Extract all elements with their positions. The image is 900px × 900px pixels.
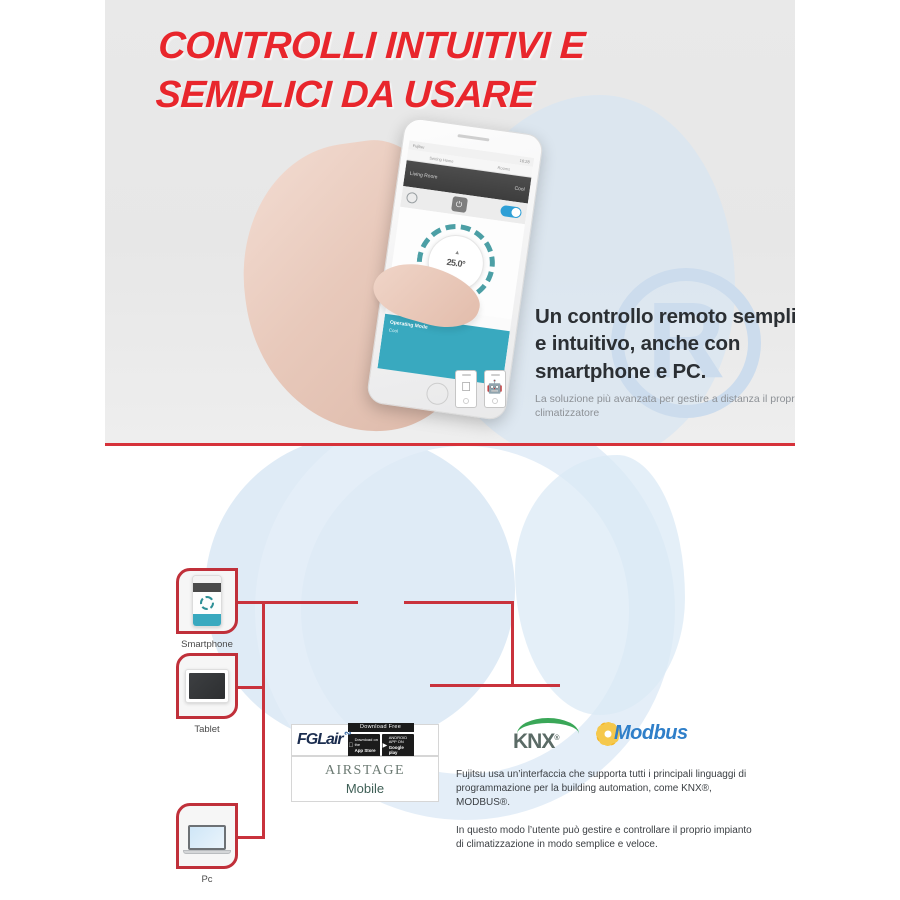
bottom-paragraph-1: Fujitsu usa un’interfaccia che supporta … [456,768,756,811]
google-play-small: ANDROID APP ON [389,735,407,745]
download-free-label: Download Free [348,723,414,732]
fglair-logo: FGLair ∾ [297,731,343,749]
line-tablet-to-bus [238,686,265,689]
android-phone-icon: 🤖 [484,370,506,408]
hero-heading-line3: smartphone e PC. [535,360,706,383]
device-frame-tablet [176,653,238,719]
tab-setting-home[interactable]: Setting Home [429,155,454,163]
status-carrier: Fujitsu [412,143,424,150]
line-pc-to-bus [238,836,265,839]
wifi-arc-icon: ∾ [344,728,351,739]
airstage-subtitle: Mobile [346,781,384,796]
device-smartphone[interactable]: Smartphone [176,568,238,650]
power-icon[interactable]: ⏻ [451,196,468,213]
phone-screen: Fujitsu 16:28 Setting Home Rooms Living … [377,140,534,385]
apple-icon:  [349,743,354,749]
google-play-label: Google play [389,745,413,755]
tablet-thumbnail [185,669,229,703]
line-smartphone-to-bus [238,601,358,604]
timer-icon[interactable] [406,192,418,204]
smartphone-thumbnail [192,575,222,627]
phone-speaker [457,134,489,141]
knx-logo: KNX® [513,718,579,754]
page-root: R CONTROLLI INTUITIVI E SEMPLICI DA USAR… [0,0,900,900]
android-logo-icon: 🤖 [487,380,503,393]
device-pc[interactable]: Pc [176,803,238,885]
google-play-badge[interactable]: ▶ ANDROID APP ON Google play [382,734,414,757]
knx-logo-text: KNX® [513,730,579,754]
line-internet-to-house [404,601,514,604]
line-house-vertical [511,601,514,687]
device-tablet[interactable]: Tablet [176,653,238,735]
modbus-logo-text: Modbus [614,722,688,745]
platform-icons:  🤖 [455,370,506,408]
bottom-text-block: Fujitsu usa un’interfaccia che supporta … [456,768,756,852]
status-time: 16:28 [519,158,530,164]
page-title-line1: CONTROLLI INTUITIVI E [157,25,586,67]
store-badges[interactable]:  Download on the App Store ▶ ANDROID AP… [348,734,414,757]
line-to-router [430,684,560,687]
device-label-smartphone: Smartphone [176,639,238,650]
device-label-tablet: Tablet [176,724,238,735]
bottom-paragraph-2: In questo modo l’utente può gestire e co… [456,824,756,852]
device-frame-pc [176,803,238,869]
hero-panel: R CONTROLLI INTUITIVI E SEMPLICI DA USAR… [105,0,795,446]
phone-home-button[interactable] [425,381,450,406]
device-label-pc: Pc [176,874,238,885]
temperature-value: 25.0° [446,257,466,269]
hero-heading: Un controllo remoto semplice e intuitivo… [535,303,795,385]
hero-subtext: La soluzione più avanzata per gestire a … [535,392,795,421]
dial-up-arrow-icon: ▲ [454,250,461,257]
room-status: Cool [514,186,525,193]
apple-phone-icon:  [455,370,477,408]
hero-text-block: Un controllo remoto semplice e intuitivo… [535,303,795,421]
app-store-label: App Store [355,748,379,753]
hero-heading-line1: Un controllo remoto semplice [535,305,795,328]
fglair-logo-text: FGLair [297,731,343,748]
tab-rooms[interactable]: Rooms [497,164,510,171]
power-toggle[interactable] [500,205,522,219]
line-vertical-bus [262,601,265,838]
device-frame-smartphone [176,568,238,634]
airstage-badge[interactable]: AIRSTAGE Mobile [291,756,439,802]
fglair-badge[interactable]: FGLair ∾ Download Free  Download on the… [291,724,439,756]
app-store-small: Download on the [355,737,378,747]
room-name: Living Room [409,171,437,181]
airstage-title: AIRSTAGE [325,763,405,779]
app-store-badge[interactable]:  Download on the App Store [348,734,380,757]
modbus-logo: Modbus [598,722,688,745]
knx-trademark: ® [554,735,558,742]
knx-text: KNX [513,730,554,753]
hero-heading-line2: e intuitivo, anche con [535,332,740,355]
page-title-line2: SEMPLICI DA USARE [154,71,583,120]
fglair-store-group: Download Free  Download on the App Stor… [348,723,414,757]
google-play-icon: ▶ [383,743,388,749]
page-title: CONTROLLI INTUITIVI E SEMPLICI DA USARE [154,22,586,121]
network-diagram: Internet Smartphone Tablet [0,450,900,900]
pc-thumbnail [183,818,231,854]
apple-logo-icon:  [461,380,471,393]
hero-divider [105,443,795,446]
